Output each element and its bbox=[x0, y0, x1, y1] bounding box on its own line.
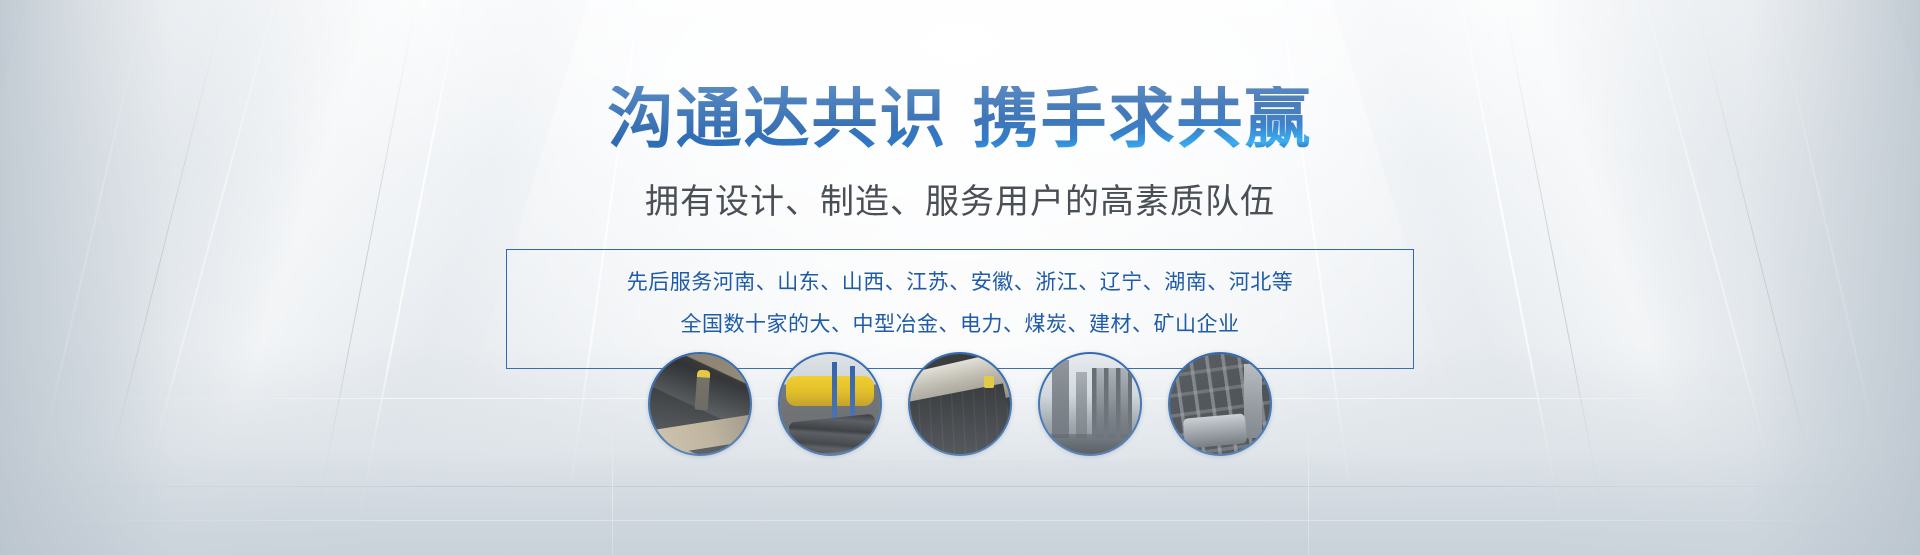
promotional-banner: 沟通达共识 携手求共赢 拥有设计、制造、服务用户的高素质队伍 先后服务河南、山东… bbox=[0, 0, 1920, 555]
background-vignette bbox=[0, 0, 1920, 555]
